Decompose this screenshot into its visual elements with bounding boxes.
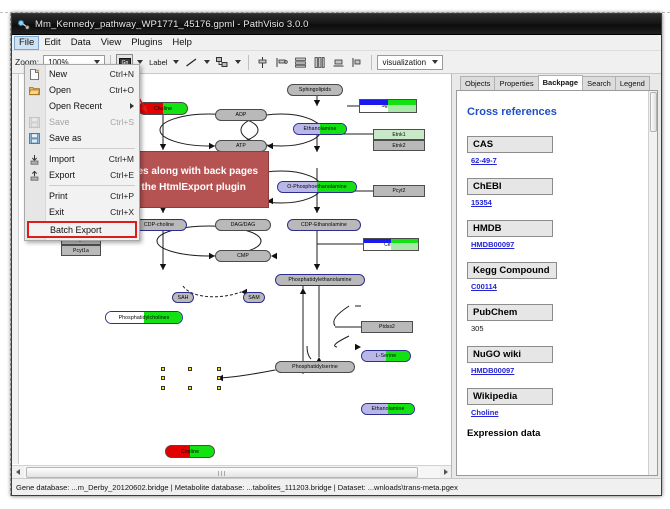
xref-link[interactable]: C00114: [471, 282, 497, 291]
node-label: DAG/DAG: [231, 222, 256, 228]
file-menu-shortcut: Ctrl+S: [110, 117, 134, 127]
metabolite-node[interactable]: SAM: [243, 292, 265, 303]
toolbar-separator-2: [248, 55, 249, 70]
gene-node[interactable]: Etnk2: [373, 140, 425, 151]
node-label: SAM: [248, 295, 260, 301]
side-panel: ObjectsPropertiesBackpageSearchLegend Cr…: [452, 74, 661, 478]
toolbar-separator-3: [371, 55, 372, 70]
file-menu-item-open[interactable]: OpenCtrl+O: [25, 82, 139, 98]
tab-search[interactable]: Search: [582, 76, 616, 90]
xref-link[interactable]: Choline: [471, 408, 499, 417]
distribute-horizontal-icon[interactable]: [311, 54, 328, 71]
resize-handle[interactable]: [188, 386, 192, 390]
application-window: Mm_Kennedy_pathway_WP1771_45176.gpml - P…: [11, 13, 662, 496]
xref-value-wrapper: 15354: [471, 198, 640, 207]
node-label: Etnk2: [392, 143, 405, 149]
export-icon: [28, 169, 41, 182]
xref-link[interactable]: HMDB00097: [471, 240, 514, 249]
line-icon[interactable]: [183, 54, 200, 71]
backpage-content: Cross references CAS62-49-7ChEBI15354HMD…: [457, 91, 648, 475]
file-menu-label: Open Recent: [49, 101, 130, 111]
file-menu-label: Export: [49, 170, 110, 180]
node-label: O-Phosphoethanolamine: [287, 184, 347, 190]
file-menu-shortcut: Ctrl+M: [109, 154, 134, 164]
xref-value-wrapper: HMDB00097: [471, 366, 640, 375]
file-menu-shortcut: Ctrl+X: [110, 207, 134, 217]
menu-data[interactable]: Data: [66, 36, 96, 50]
side-panel-body: Cross references CAS62-49-7ChEBI15354HMD…: [456, 90, 658, 476]
file-menu-separator: [49, 185, 135, 186]
visualization-value: visualization: [382, 58, 426, 67]
xref-value: 305: [471, 324, 484, 333]
status-text: Gene database: ...m_Derby_20120602.bridg…: [16, 483, 458, 492]
file-menu-separator: [49, 148, 135, 149]
metabolite-node[interactable]: Phosphatidylserine: [275, 361, 355, 373]
metabolite-node[interactable]: Ethanolamine: [293, 123, 347, 135]
menu-plugins[interactable]: Plugins: [126, 36, 167, 50]
align-center-icon[interactable]: [254, 54, 271, 71]
tab-objects[interactable]: Objects: [460, 76, 495, 90]
desktop-left-edge: [0, 13, 11, 496]
metabolite-node[interactable]: ADP: [215, 109, 267, 121]
node-label: CDP-Ethanolamine: [301, 222, 347, 228]
shape-dropdown-icon[interactable]: [235, 60, 241, 64]
align-left-icon[interactable]: [273, 54, 290, 71]
node-fill-right: [391, 243, 418, 250]
gene-node[interactable]: Ptdss2: [361, 321, 413, 333]
xref-value-wrapper: Choline: [471, 408, 640, 417]
node-label: Phosphatidylserine: [292, 364, 338, 370]
scroll-thumb[interactable]: [26, 467, 418, 478]
canvas-horizontal-scrollbar[interactable]: [12, 465, 452, 478]
xref-link[interactable]: HMDB00097: [471, 366, 514, 375]
file-menu-label: Save: [49, 117, 110, 127]
metabolite-node[interactable]: CDP-Ethanolamine: [287, 219, 361, 231]
file-menu-label: Open: [49, 85, 109, 95]
metabolite-node[interactable]: Sphingolipids: [287, 84, 343, 96]
xref-source-cas: CAS: [467, 136, 553, 153]
node-label: Phosphatidylethanolamine: [288, 277, 351, 283]
file-menu-item-print[interactable]: PrintCtrl+P: [25, 188, 139, 204]
expression-data-heading: Expression data: [467, 428, 640, 439]
resize-handle[interactable]: [217, 376, 221, 380]
file-menu-item-exit[interactable]: ExitCtrl+X: [25, 204, 139, 220]
save-disk-icon: [28, 116, 41, 129]
resize-handle[interactable]: [161, 367, 165, 371]
node-strip-left: [364, 239, 391, 243]
status-bar: Gene database: ...m_Derby_20120602.bridg…: [12, 478, 661, 495]
align-right-icon[interactable]: [349, 54, 366, 71]
node-label: ATP: [236, 143, 246, 149]
xref-value-wrapper: HMDB00097: [471, 240, 640, 249]
node-strip-left: [360, 100, 388, 105]
save-as-icon: [28, 132, 41, 145]
menu-bar: FileEditDataViewPluginsHelp: [12, 35, 661, 51]
file-menu-dropdown[interactable]: NewCtrl+NOpenCtrl+OOpen RecentSaveCtrl+S…: [24, 64, 140, 241]
resize-handle[interactable]: [188, 367, 192, 371]
pathvisio-icon: [17, 18, 30, 31]
file-menu-item-save-as[interactable]: Save as: [25, 130, 139, 146]
side-panel-scroll-thumb[interactable]: [650, 92, 657, 132]
side-panel-tabs: ObjectsPropertiesBackpageSearchLegend: [452, 74, 661, 90]
gene-node[interactable]: Cept1: [363, 238, 419, 251]
gene-node[interactable]: Pcyt2: [373, 185, 425, 197]
xref-value-wrapper: 62-49-7: [471, 156, 640, 165]
metabolite-node[interactable]: SAH: [172, 292, 194, 303]
resize-handle[interactable]: [217, 386, 221, 390]
node-label: ADP: [236, 112, 247, 118]
node-label: CMP: [237, 253, 249, 259]
chevron-right-icon: [130, 103, 134, 109]
metabolite-node[interactable]: DAG/DAG: [215, 219, 271, 231]
visualization-combobox[interactable]: visualization: [377, 55, 443, 70]
window-title: Mm_Kennedy_pathway_WP1771_45176.gpml - P…: [35, 19, 309, 30]
chevron-down-icon: [432, 60, 438, 64]
file-menu-shortcut: Ctrl+P: [110, 191, 134, 201]
xref-source-chebi: ChEBI: [467, 178, 553, 195]
resize-handle[interactable]: [161, 386, 165, 390]
file-menu-label: Save as: [49, 133, 134, 143]
file-menu-shortcut: Ctrl+O: [109, 85, 134, 95]
menu-edit[interactable]: Edit: [39, 36, 65, 50]
desktop-bottom-edge: [0, 496, 670, 509]
file-menu-item-open-recent[interactable]: Open Recent: [25, 98, 139, 114]
shape-icon[interactable]: [214, 54, 231, 71]
xref-source-kegg-compound: Kegg Compound: [467, 262, 557, 279]
file-menu-item-save: SaveCtrl+S: [25, 114, 139, 130]
cross-reference-list: CAS62-49-7ChEBI15354HMDBHMDB00097Kegg Co…: [467, 134, 640, 417]
xref-link[interactable]: 62-49-7: [471, 156, 497, 165]
label-button[interactable]: Label: [147, 58, 169, 67]
node-label: Phosphatidylcholines: [119, 315, 170, 321]
xref-source-hmdb: HMDB: [467, 220, 553, 237]
tab-backpage[interactable]: Backpage: [538, 75, 583, 90]
file-menu-label: Import: [49, 154, 109, 164]
file-menu-item-batch-export[interactable]: Batch Export: [27, 221, 137, 238]
node-label: SAH: [178, 295, 189, 301]
node-label: Sphingolipids: [299, 87, 331, 93]
scroll-left-button[interactable]: [12, 466, 24, 478]
file-menu-label: Exit: [49, 207, 110, 217]
node-label: Etnk1: [392, 132, 405, 138]
label-dropdown-icon[interactable]: [173, 60, 179, 64]
new-document-icon: [28, 68, 41, 81]
metabolite-node[interactable]: Phosphatidylcholines: [105, 311, 183, 324]
node-label: Ethanolamine: [372, 406, 405, 412]
node-label: CDP-choline: [144, 222, 174, 228]
xref-value-wrapper: 305: [471, 324, 640, 333]
gene-node[interactable]: Etnk1: [373, 129, 425, 140]
node-label: Ptdss2: [379, 324, 395, 330]
file-menu-item-new[interactable]: NewCtrl+N: [25, 66, 139, 82]
menu-file[interactable]: File: [14, 36, 39, 50]
desktop-top-edge: [0, 0, 670, 13]
node-label: Ethanolamine: [304, 126, 337, 132]
xref-source-pubchem: PubChem: [467, 304, 553, 321]
line-dropdown-icon[interactable]: [204, 60, 210, 64]
node-label: L-Serine: [376, 353, 396, 359]
scroll-right-button[interactable]: [440, 466, 452, 478]
node-label: Choline: [181, 449, 199, 455]
chevron-right-icon: [444, 469, 448, 475]
node-label: Pcyt2: [392, 188, 405, 194]
side-panel-scrollbar[interactable]: [648, 91, 657, 475]
node-fill-right: [388, 105, 416, 112]
metabolite-node[interactable]: Ethanolamine: [361, 403, 415, 415]
backpage-title: Cross references: [467, 106, 640, 118]
align-bottom-icon[interactable]: [330, 54, 347, 71]
resize-handle[interactable]: [161, 376, 165, 380]
metabolite-node[interactable]: Phosphatidylethanolamine: [275, 274, 365, 286]
file-menu-shortcut: Ctrl+E: [110, 170, 134, 180]
canvas-left-gutter: [12, 74, 19, 464]
menu-view[interactable]: View: [96, 36, 126, 50]
metabolite-node[interactable]: CMP: [215, 250, 271, 262]
xref-link[interactable]: 15354: [471, 198, 492, 207]
tab-legend[interactable]: Legend: [615, 76, 650, 90]
gene-node[interactable]: Pcyt1a: [61, 245, 101, 256]
metabolite-node[interactable]: Choline: [165, 445, 215, 458]
title-bar: Mm_Kennedy_pathway_WP1771_45176.gpml - P…: [12, 14, 661, 35]
file-menu-shortcut: Ctrl+N: [110, 69, 134, 79]
chevron-left-icon: [16, 469, 20, 475]
file-menu-item-export[interactable]: ExportCtrl+E: [25, 167, 139, 183]
node-label: Pcyt1a: [73, 248, 89, 254]
metabolite-node[interactable]: L-Serine: [361, 350, 411, 362]
metabolite-node[interactable]: O-Phosphoethanolamine: [277, 181, 357, 193]
screen-root: Mm_Kennedy_pathway_WP1771_45176.gpml - P…: [0, 0, 670, 509]
import-icon: [28, 153, 41, 166]
file-menu-label: Batch Export: [50, 225, 130, 235]
xref-source-wikipedia: Wikipedia: [467, 388, 553, 405]
tab-properties[interactable]: Properties: [494, 76, 538, 90]
menu-help[interactable]: Help: [167, 36, 197, 50]
file-menu-label: New: [49, 69, 110, 79]
file-menu-label: Print: [49, 191, 110, 201]
xref-source-nugo-wiki: NuGO wiki: [467, 346, 553, 363]
scroll-track[interactable]: [24, 467, 440, 478]
folder-open-icon: [28, 84, 41, 97]
file-menu-item-import[interactable]: ImportCtrl+M: [25, 151, 139, 167]
resize-handle[interactable]: [217, 367, 221, 371]
gene-node[interactable]: Sgpl1: [359, 99, 417, 113]
metabolite-node[interactable]: Choline: [138, 102, 188, 115]
desktop-right-edge: [662, 13, 670, 496]
xref-value-wrapper: C00114: [471, 282, 640, 291]
node-label: Choline: [154, 106, 172, 112]
distribute-vertical-icon[interactable]: [292, 54, 309, 71]
selection-handles[interactable]: [161, 367, 219, 388]
